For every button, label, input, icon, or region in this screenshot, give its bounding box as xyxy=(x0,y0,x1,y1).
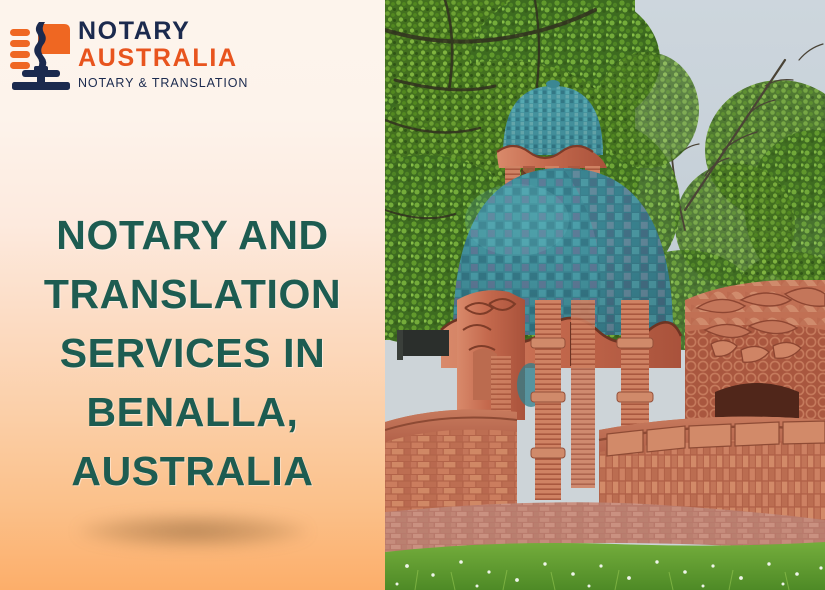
ground-shadow-ellipse xyxy=(78,514,308,548)
brand-line-australia: AUSTRALIA xyxy=(78,44,248,74)
page-title: NOTARY AND TRANSLATION SERVICES IN BENAL… xyxy=(0,206,385,501)
promo-banner: NOTARY AUSTRALIA NOTARY & TRANSLATION NO… xyxy=(0,0,825,590)
brand-line-notary: NOTARY xyxy=(78,18,248,44)
headline-line-4: BENALLA, xyxy=(18,383,367,442)
headline-line-2: TRANSLATION xyxy=(18,265,367,324)
headline-line-3: SERVICES IN xyxy=(18,324,367,383)
notary-stamp-icon xyxy=(8,14,72,94)
brand-logo[interactable]: NOTARY AUSTRALIA NOTARY & TRANSLATION xyxy=(8,14,248,94)
headline-line-1: NOTARY AND xyxy=(18,206,367,265)
hero-photo xyxy=(385,0,825,590)
left-content-panel: NOTARY AUSTRALIA NOTARY & TRANSLATION NO… xyxy=(0,0,385,590)
brand-tagline: NOTARY & TRANSLATION xyxy=(78,74,248,93)
brand-wordmark: NOTARY AUSTRALIA NOTARY & TRANSLATION xyxy=(78,16,248,93)
headline-line-5: AUSTRALIA xyxy=(18,442,367,501)
